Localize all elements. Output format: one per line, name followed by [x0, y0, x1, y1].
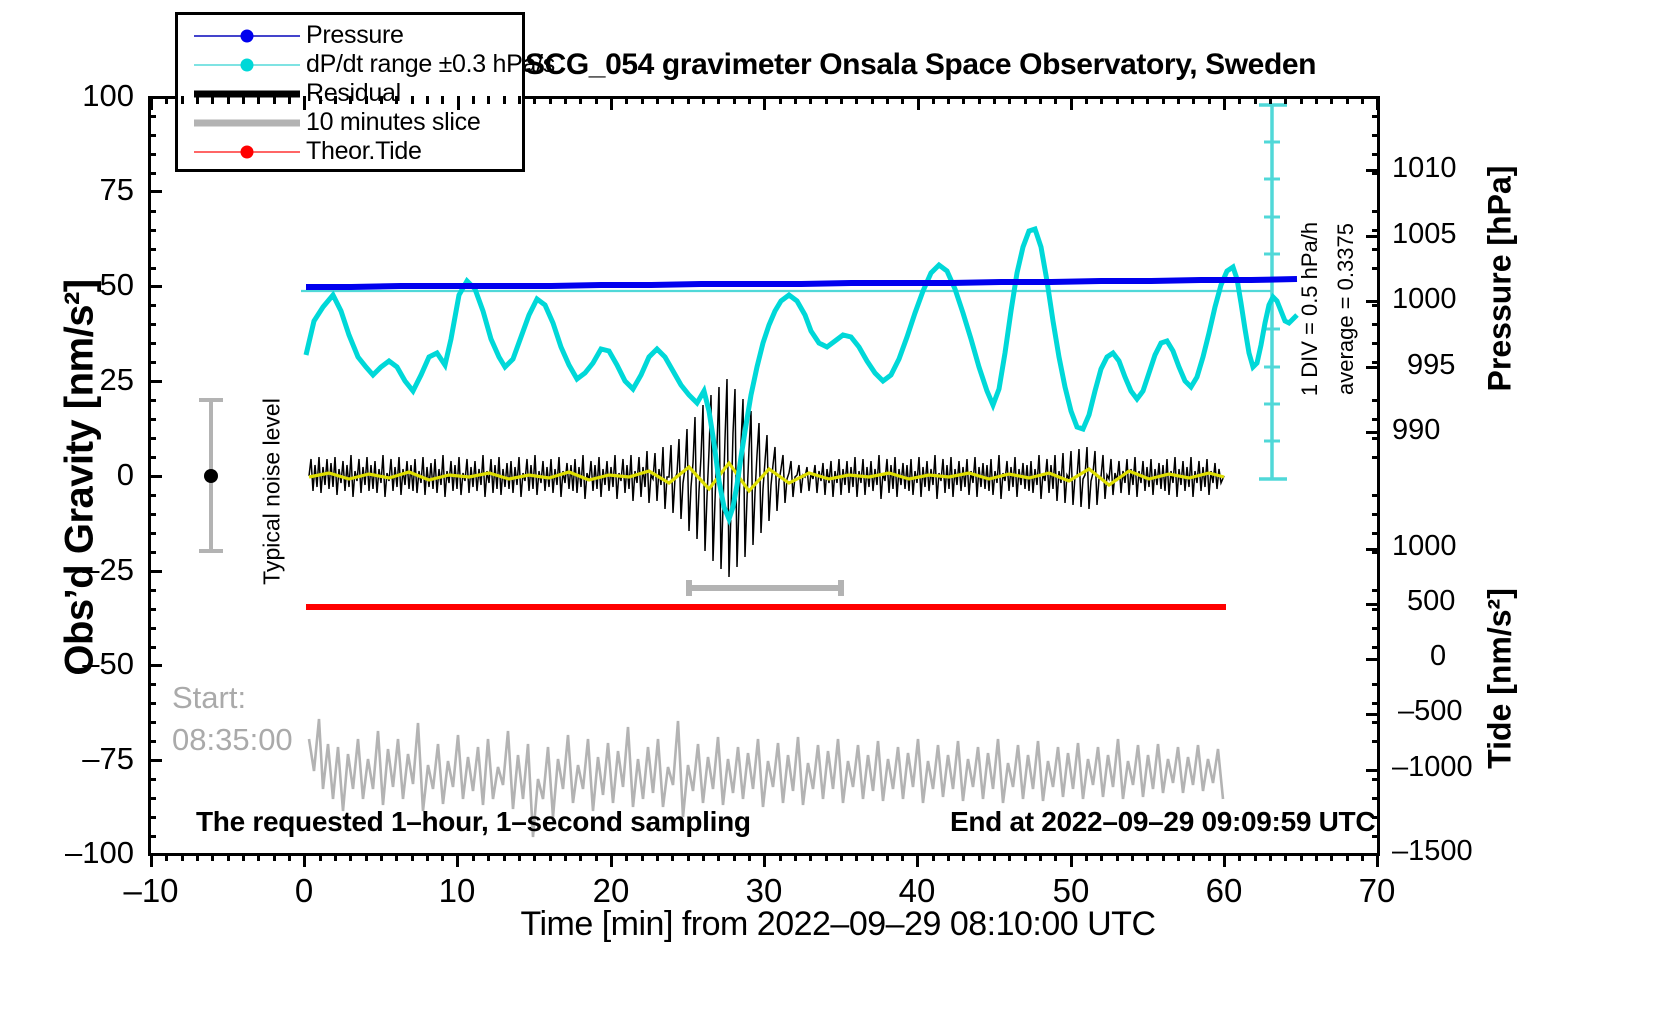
x-tick-minor [365, 853, 368, 861]
x-tick-minor [794, 853, 797, 861]
x-tick-minor [211, 853, 214, 861]
y-tick-right-minor [1372, 210, 1380, 213]
x-tick-top-minor [1024, 96, 1027, 104]
y-tick-left-major [148, 285, 162, 288]
x-tick-top-minor [257, 96, 260, 104]
x-tick-minor [1116, 853, 1119, 861]
y-tick-right-pressure [1366, 300, 1380, 303]
x-tick-label: 30 [704, 872, 824, 910]
x-tick-minor [886, 853, 889, 861]
x-tick-minor [395, 853, 398, 861]
legend-label-pressure: Pressure [306, 21, 404, 50]
y-tick-right-minor [1372, 342, 1380, 345]
y-tick-left-minor [148, 532, 156, 535]
x-tick-major [610, 853, 613, 867]
x-tick-minor [717, 853, 720, 861]
y-tick-label-right-tide: 1000 [1392, 530, 1457, 563]
x-tick-minor [1284, 853, 1287, 861]
y-axis-right-pressure-title: Pressure [hPa] [1482, 69, 1519, 489]
x-tick-label: 70 [1317, 872, 1437, 910]
y-tick-right-minor [1372, 646, 1380, 649]
x-tick-major [1070, 853, 1073, 867]
y-tick-right-pressure [1366, 431, 1380, 434]
x-tick-minor [319, 853, 322, 861]
x-tick-major [1376, 853, 1379, 867]
x-tick-major [150, 853, 153, 867]
y-tick-left-minor [148, 134, 156, 137]
y-tick-left-minor [148, 683, 156, 686]
legend-swatch-slice [188, 113, 306, 133]
legend-swatch-tide [188, 142, 306, 162]
y-tick-right-pressure [1366, 235, 1380, 238]
y-tick-right-tide [1366, 713, 1380, 716]
start-label: Start: [172, 680, 246, 716]
y-tick-label-left: –75 [14, 741, 134, 777]
x-tick-label: 10 [397, 872, 517, 910]
y-tick-right-minor [1372, 835, 1380, 838]
x-tick-top-minor [1039, 96, 1042, 104]
x-tick-top-minor [380, 96, 383, 104]
x-tick-top-minor [1146, 96, 1149, 104]
x-tick-top-minor [1284, 96, 1287, 104]
x-tick-minor [1085, 853, 1088, 861]
y-tick-left-major [148, 664, 162, 667]
legend-swatch-pressure [188, 26, 306, 46]
x-tick-top-minor [1269, 96, 1272, 104]
x-tick-top-minor [1162, 96, 1165, 104]
x-tick-minor [257, 853, 260, 861]
x-tick-minor [487, 853, 490, 861]
x-tick-top-minor [334, 96, 337, 104]
x-tick-minor [1300, 853, 1303, 861]
y-tick-right-minor [1372, 418, 1380, 421]
x-tick-minor [1131, 853, 1134, 861]
x-tick-minor [564, 853, 567, 861]
x-tick-top-minor [978, 96, 981, 104]
x-tick-top-minor [426, 96, 429, 104]
y-tick-right-minor [1372, 399, 1380, 402]
y-tick-right-tide [1366, 769, 1380, 772]
x-tick-minor [426, 853, 429, 861]
x-tick-minor [380, 853, 383, 861]
x-tick-minor [1208, 853, 1211, 861]
x-tick-top-minor [211, 96, 214, 104]
x-tick-top-minor [1177, 96, 1180, 104]
y-tick-left-minor [148, 267, 156, 270]
x-tick-top-major [303, 96, 306, 110]
x-tick-top-minor [1116, 96, 1119, 104]
x-tick-top-major [763, 96, 766, 110]
y-tick-right-minor [1372, 816, 1380, 819]
y-tick-left-minor [148, 115, 156, 118]
x-tick-top-minor [487, 96, 490, 104]
y-tick-right-tide [1366, 603, 1380, 606]
legend-label-dpdt: dP/dt range ±0.3 hPa/s [306, 50, 555, 79]
x-tick-major [456, 853, 459, 867]
noise-level-label: Typical noise level [259, 397, 286, 587]
x-tick-minor [411, 853, 414, 861]
x-tick-minor [595, 853, 598, 861]
x-tick-top-minor [779, 96, 782, 104]
x-tick-top-minor [196, 96, 199, 104]
x-tick-top-minor [947, 96, 950, 104]
x-tick-top-major [917, 96, 920, 110]
y-tick-label-right-tide: –500 [1398, 695, 1463, 728]
x-tick-top-minor [641, 96, 644, 104]
x-tick-minor [242, 853, 245, 861]
y-tick-left-minor [148, 399, 156, 402]
x-tick-top-minor [1330, 96, 1333, 104]
y-tick-label-right-tide: 0 [1430, 640, 1446, 673]
x-tick-label: 40 [857, 872, 977, 910]
x-tick-minor [503, 853, 506, 861]
x-tick-top-minor [1361, 96, 1364, 104]
x-tick-minor [978, 853, 981, 861]
x-tick-top-minor [595, 96, 598, 104]
x-tick-top-minor [625, 96, 628, 104]
x-tick-top-minor [1315, 96, 1318, 104]
legend-item-tide[interactable]: Theor.Tide [178, 137, 522, 166]
x-tick-top-minor [365, 96, 368, 104]
x-tick-top-minor [671, 96, 674, 104]
x-tick-top-major [1376, 96, 1379, 110]
y-tick-right-minor [1372, 513, 1380, 516]
x-tick-top-minor [533, 96, 536, 104]
legend-label-tide: Theor.Tide [306, 137, 422, 166]
x-tick-label: 0 [244, 872, 364, 910]
x-tick-top-minor [411, 96, 414, 104]
y-tick-right-minor [1372, 456, 1380, 459]
x-tick-minor [1024, 853, 1027, 861]
x-tick-top-minor [1346, 96, 1349, 104]
y-tick-right-pressure [1366, 366, 1380, 369]
x-tick-minor [472, 853, 475, 861]
x-tick-minor [549, 853, 552, 861]
x-tick-top-major [610, 96, 613, 110]
x-tick-minor [288, 853, 291, 861]
x-tick-minor [273, 853, 276, 861]
y-tick-right-minor [1372, 115, 1380, 118]
sampling-note: The requested 1–hour, 1–second sampling [196, 806, 751, 838]
x-tick-top-minor [993, 96, 996, 104]
x-tick-top-minor [319, 96, 322, 104]
x-tick-label: 50 [1011, 872, 1131, 910]
y-tick-left-minor [148, 608, 156, 611]
legend-item-slice[interactable]: 10 minutes slice [178, 108, 522, 137]
x-tick-top-minor [886, 96, 889, 104]
x-tick-minor [1269, 853, 1272, 861]
y-tick-right-minor [1372, 721, 1380, 724]
x-tick-minor [625, 853, 628, 861]
x-tick-top-minor [1208, 96, 1211, 104]
x-tick-top-major [1223, 96, 1226, 110]
x-tick-minor [196, 853, 199, 861]
x-tick-top-minor [840, 96, 843, 104]
y-tick-label-left: 75 [14, 172, 134, 208]
x-tick-minor [733, 853, 736, 861]
x-tick-top-minor [1192, 96, 1195, 104]
x-tick-minor [165, 853, 168, 861]
y-tick-left-major [148, 570, 162, 573]
x-tick-minor [641, 853, 644, 861]
x-tick-top-minor [227, 96, 230, 104]
y-tick-label-right-tide: –1000 [1392, 751, 1473, 784]
x-tick-minor [1177, 853, 1180, 861]
x-tick-top-minor [871, 96, 874, 104]
x-tick-top-minor [825, 96, 828, 104]
y-tick-right-minor [1372, 267, 1380, 270]
x-tick-minor [227, 853, 230, 861]
x-tick-minor [687, 853, 690, 861]
x-tick-minor [993, 853, 996, 861]
x-tick-top-minor [687, 96, 690, 104]
y-tick-right-minor [1372, 323, 1380, 326]
y-tick-label-left: 50 [14, 267, 134, 303]
y-tick-left-minor [148, 513, 156, 516]
y-tick-right-minor [1372, 229, 1380, 232]
x-tick-top-minor [165, 96, 168, 104]
x-tick-minor [349, 853, 352, 861]
x-tick-top-minor [717, 96, 720, 104]
x-tick-top-major [457, 96, 460, 110]
y-tick-right-minor [1372, 248, 1380, 251]
x-tick-top-minor [288, 96, 291, 104]
y-tick-left-minor [148, 342, 156, 345]
slice-marker-bar [689, 580, 841, 596]
x-tick-minor [671, 853, 674, 861]
x-tick-minor [1146, 853, 1149, 861]
y-tick-left-minor [148, 740, 156, 743]
y-tick-right-minor [1372, 740, 1380, 743]
x-tick-top-minor [702, 96, 705, 104]
y-tick-left-minor [148, 172, 156, 175]
y-tick-right-minor [1372, 551, 1380, 554]
x-tick-top-minor [472, 96, 475, 104]
y-tick-label-right-pressure: 1010 [1392, 152, 1457, 185]
y-tick-left-minor [148, 248, 156, 251]
y-tick-left-minor [148, 304, 156, 307]
x-tick-top-minor [1254, 96, 1257, 104]
y-tick-left-minor [148, 229, 156, 232]
y-tick-left-minor [148, 835, 156, 838]
x-tick-minor [1315, 853, 1318, 861]
legend-swatch-dpdt [188, 55, 306, 75]
x-tick-top-minor [1131, 96, 1134, 104]
y-tick-label-left: 25 [14, 362, 134, 398]
x-tick-minor [1361, 853, 1364, 861]
x-axis-title-text: Time [min] from 2022–09–29 08:10:00 UTC [520, 905, 1155, 944]
y-tick-left-minor [148, 721, 156, 724]
end-time-note: End at 2022–09–29 09:09:59 UTC [950, 806, 1375, 838]
x-tick-minor [1039, 853, 1042, 861]
x-tick-minor [533, 853, 536, 861]
x-tick-top-minor [579, 96, 582, 104]
y-tick-left-minor [148, 494, 156, 497]
y-tick-right-minor [1372, 683, 1380, 686]
x-tick-top-minor [1100, 96, 1103, 104]
x-tick-top-minor [564, 96, 567, 104]
y-tick-label-right-pressure: 1005 [1392, 218, 1457, 251]
y-tick-left-minor [148, 361, 156, 364]
x-tick-minor [334, 853, 337, 861]
plot-area [148, 96, 1380, 856]
noise-level-bar [199, 400, 223, 551]
x-tick-top-minor [901, 96, 904, 104]
y-tick-label-right-pressure: 1000 [1392, 283, 1457, 316]
x-tick-top-minor [809, 96, 812, 104]
y-tick-left-minor [148, 816, 156, 819]
y-tick-right-minor [1372, 778, 1380, 781]
x-tick-top-minor [549, 96, 552, 104]
average-label: average = 0.3375 [1333, 209, 1359, 409]
x-tick-minor [1330, 853, 1333, 861]
x-tick-minor [579, 853, 582, 861]
x-tick-minor [962, 853, 965, 861]
y-tick-left-major [148, 475, 162, 478]
y-tick-left-minor [148, 702, 156, 705]
y-tick-right-minor [1372, 172, 1380, 175]
y-tick-right-minor [1372, 589, 1380, 592]
y-tick-left-minor [148, 589, 156, 592]
x-tick-top-minor [395, 96, 398, 104]
x-tick-minor [840, 853, 843, 861]
x-tick-minor [809, 853, 812, 861]
x-tick-major [1223, 853, 1226, 867]
x-tick-minor [1008, 853, 1011, 861]
y-tick-right-tide [1366, 658, 1380, 661]
x-tick-top-minor [273, 96, 276, 104]
y-tick-label-right-pressure: 990 [1392, 414, 1440, 447]
x-tick-top-minor [794, 96, 797, 104]
x-tick-major [916, 853, 919, 867]
x-tick-top-minor [1085, 96, 1088, 104]
x-tick-minor [825, 853, 828, 861]
x-tick-top-minor [1300, 96, 1303, 104]
x-tick-minor [855, 853, 858, 861]
y-tick-label-left: –50 [14, 646, 134, 682]
x-tick-top-minor [518, 96, 521, 104]
y-tick-left-major [148, 380, 162, 383]
x-tick-minor [181, 853, 184, 861]
y-tick-right-minor [1372, 134, 1380, 137]
y-tick-right-minor [1372, 608, 1380, 611]
x-tick-top-minor [1008, 96, 1011, 104]
x-tick-top-minor [503, 96, 506, 104]
y-tick-right-minor [1372, 153, 1380, 156]
x-tick-minor [1346, 853, 1349, 861]
div-scale-label: 1 DIV = 0.5 hPa/h [1297, 209, 1323, 409]
x-tick-minor [779, 853, 782, 861]
y-axis-right-tide-title: Tide [nm/s²] [1482, 509, 1519, 849]
x-axis-title: Time [min] from 2022–09–29 08:10:00 UTC [0, 905, 1676, 944]
legend[interactable]: Pressure dP/dt range ±0.3 hPa/s Residual… [175, 12, 525, 172]
x-tick-top-minor [748, 96, 751, 104]
y-tick-left-minor [148, 551, 156, 554]
y-tick-left-minor [148, 778, 156, 781]
x-tick-minor [1192, 853, 1195, 861]
plot-canvas [151, 99, 1377, 853]
x-tick-top-minor [1054, 96, 1057, 104]
y-tick-left-major [148, 759, 162, 762]
legend-item-pressure[interactable]: Pressure [178, 21, 522, 50]
x-tick-major [763, 853, 766, 867]
x-tick-top-minor [181, 96, 184, 104]
y-tick-right-minor [1372, 304, 1380, 307]
y-tick-label-right-tide: –1500 [1392, 835, 1473, 868]
x-tick-minor [947, 853, 950, 861]
y-tick-label-right-pressure: 995 [1407, 349, 1455, 382]
chart-title: SCG_054 gravimeter Onsala Space Observat… [525, 48, 1316, 82]
x-tick-top-minor [733, 96, 736, 104]
x-tick-minor [1054, 853, 1057, 861]
y-tick-right-minor [1372, 437, 1380, 440]
y-tick-left-minor [148, 418, 156, 421]
residual-trace [309, 379, 1224, 577]
y-tick-right-minor [1372, 532, 1380, 535]
x-tick-minor [441, 853, 444, 861]
y-tick-left-minor [148, 437, 156, 440]
y-tick-right-minor [1372, 494, 1380, 497]
x-tick-top-minor [349, 96, 352, 104]
x-tick-label: 20 [551, 872, 671, 910]
y-tick-right-minor [1372, 361, 1380, 364]
x-tick-top-major [1070, 96, 1073, 110]
x-tick-minor [901, 853, 904, 861]
y-tick-left-minor [148, 646, 156, 649]
y-tick-right-minor [1372, 627, 1380, 630]
x-tick-minor [871, 853, 874, 861]
x-tick-major [303, 853, 306, 867]
y-tick-label-left: –100 [14, 835, 134, 871]
legend-item-dpdt[interactable]: dP/dt range ±0.3 hPa/s [178, 50, 522, 79]
y-tick-right-minor [1372, 702, 1380, 705]
y-tick-left-minor [148, 797, 156, 800]
x-tick-top-minor [441, 96, 444, 104]
y-tick-left-minor [148, 153, 156, 156]
y-tick-left-minor [148, 323, 156, 326]
y-tick-left-minor [148, 456, 156, 459]
x-tick-minor [1238, 853, 1241, 861]
x-tick-minor [1254, 853, 1257, 861]
x-tick-top-minor [855, 96, 858, 104]
x-tick-minor [1162, 853, 1165, 861]
x-tick-minor [518, 853, 521, 861]
x-tick-minor [748, 853, 751, 861]
y-tick-left-major [148, 190, 162, 193]
x-tick-top-major [150, 96, 153, 110]
x-tick-top-minor [1238, 96, 1241, 104]
legend-label-slice: 10 minutes slice [306, 108, 480, 137]
x-tick-top-minor [932, 96, 935, 104]
y-tick-label-right-tide: 500 [1407, 585, 1455, 618]
y-tick-left-minor [148, 210, 156, 213]
y-tick-label-left: 100 [14, 78, 134, 114]
x-tick-label: 60 [1164, 872, 1284, 910]
x-tick-top-minor [656, 96, 659, 104]
y-tick-label-left: –25 [14, 552, 134, 588]
y-tick-label-left: 0 [14, 457, 134, 493]
x-tick-minor [702, 853, 705, 861]
x-tick-top-minor [242, 96, 245, 104]
x-tick-minor [932, 853, 935, 861]
y-tick-right-minor [1372, 797, 1380, 800]
x-tick-minor [1100, 853, 1103, 861]
x-tick-label: –10 [91, 872, 211, 910]
x-tick-top-minor [962, 96, 965, 104]
start-time: 08:35:00 [172, 722, 293, 758]
pressure-trace [306, 279, 1297, 287]
x-tick-minor [656, 853, 659, 861]
